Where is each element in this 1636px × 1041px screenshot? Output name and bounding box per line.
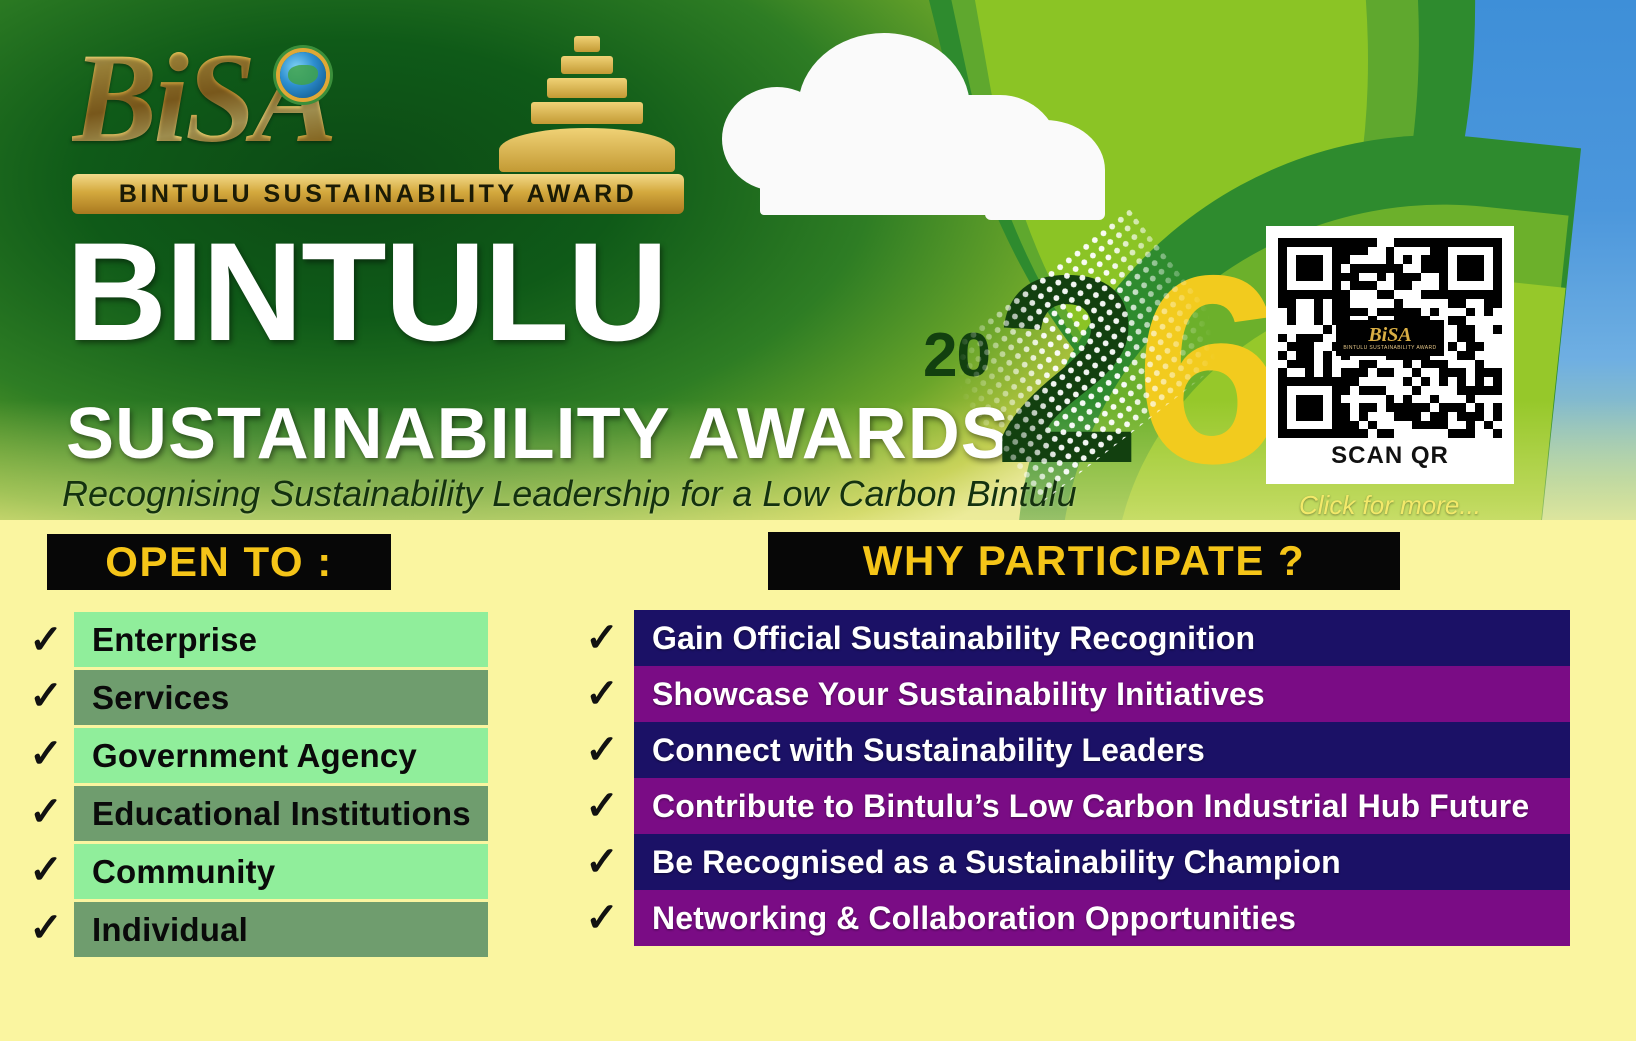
open-to-heading: OPEN TO : [105,538,332,586]
why-participate-item: ✓Connect with Sustainability Leaders [570,722,1570,778]
open-to-item: ✓Individual [18,899,488,957]
why-participate-item: ✓Networking & Collaboration Opportunitie… [570,890,1570,946]
qr-code-image[interactable]: BiSA BINTULU SUSTAINABILITY AWARD [1278,238,1502,438]
why-participate-heading: WHY PARTICIPATE ? [863,537,1305,585]
why-participate-list: ✓Gain Official Sustainability Recognitio… [570,610,1570,946]
award-tower-icon [492,34,682,174]
bisa-logo: BiSA BINTULU SUSTAINABILITY AWARD [72,24,682,214]
list-item-label: Showcase Your Sustainability Initiatives [652,676,1265,713]
qr-code-card[interactable]: BiSA BINTULU SUSTAINABILITY AWARD SCAN Q… [1266,226,1514,484]
list-item-label: Individual [92,911,248,949]
qr-embedded-subtitle: BINTULU SUSTAINABILITY AWARD [1343,345,1436,351]
list-item-label: Networking & Collaboration Opportunities [652,900,1296,937]
check-icon: ✓ [18,899,74,957]
poster-root: BiSA BINTULU SUSTAINABILITY AWARD BINTUL… [0,0,1636,1041]
open-to-item: ✓Government Agency [18,725,488,783]
list-item-label: Government Agency [92,737,417,775]
list-item-label: Services [92,679,229,717]
list-item-bar: Showcase Your Sustainability Initiatives [634,666,1570,722]
why-participate-heading-banner: WHY PARTICIPATE ? [768,532,1400,590]
check-icon: ✓ [18,667,74,725]
list-item-bar: Government Agency [74,728,488,783]
why-participate-item: ✓Be Recognised as a Sustainability Champ… [570,834,1570,890]
globe-icon [280,52,326,98]
cloud-small-icon [985,120,1105,220]
year-badge: 2 6 20 [905,225,1225,515]
list-item-label: Educational Institutions [92,795,471,833]
list-item-label: Community [92,853,275,891]
list-item-bar: Gain Official Sustainability Recognition [634,610,1570,666]
why-participate-item: ✓Gain Official Sustainability Recognitio… [570,610,1570,666]
qr-label: SCAN QR [1331,442,1449,470]
list-item-bar: Individual [74,902,488,957]
list-item-bar: Connect with Sustainability Leaders [634,722,1570,778]
qr-embedded-logo: BiSA BINTULU SUSTAINABILITY AWARD [1336,320,1444,356]
open-to-item: ✓Enterprise [18,612,488,667]
open-to-item: ✓Educational Institutions [18,783,488,841]
list-item-bar: Be Recognised as a Sustainability Champi… [634,834,1570,890]
why-participate-item: ✓Showcase Your Sustainability Initiative… [570,666,1570,722]
qr-embedded-wordmark: BiSA [1368,325,1411,345]
check-icon: ✓ [570,778,634,834]
list-item-label: Be Recognised as a Sustainability Champi… [652,844,1341,881]
check-icon: ✓ [570,666,634,722]
check-icon: ✓ [18,725,74,783]
why-participate-item: ✓Contribute to Bintulu’s Low Carbon Indu… [570,778,1570,834]
list-item-bar: Community [74,844,488,899]
open-to-item: ✓Services [18,667,488,725]
list-item-bar: Educational Institutions [74,786,488,841]
logo-subtitle-bar: BINTULU SUSTAINABILITY AWARD [72,174,684,214]
list-item-label: Gain Official Sustainability Recognition [652,620,1255,657]
check-icon: ✓ [570,834,634,890]
list-item-bar: Services [74,670,488,725]
page-subtitle: SUSTAINABILITY AWARDS [66,398,1010,470]
check-icon: ✓ [18,783,74,841]
list-item-label: Connect with Sustainability Leaders [652,732,1205,769]
list-item-bar: Enterprise [74,612,488,667]
check-icon: ✓ [570,890,634,946]
check-icon: ✓ [570,610,634,666]
page-title: BINTULU [66,228,666,357]
list-item-label: Contribute to Bintulu’s Low Carbon Indus… [652,788,1529,825]
check-icon: ✓ [570,722,634,778]
qr-click-link[interactable]: Click for more... [1266,490,1514,521]
open-to-list: ✓Enterprise✓Services✓Government Agency✓E… [18,612,488,957]
check-icon: ✓ [18,612,74,667]
list-item-label: Enterprise [92,621,257,659]
list-item-bar: Contribute to Bintulu’s Low Carbon Indus… [634,778,1570,834]
check-icon: ✓ [18,841,74,899]
open-to-item: ✓Community [18,841,488,899]
list-item-bar: Networking & Collaboration Opportunities [634,890,1570,946]
open-to-heading-banner: OPEN TO : [47,534,391,590]
logo-subtitle: BINTULU SUSTAINABILITY AWARD [119,180,637,209]
